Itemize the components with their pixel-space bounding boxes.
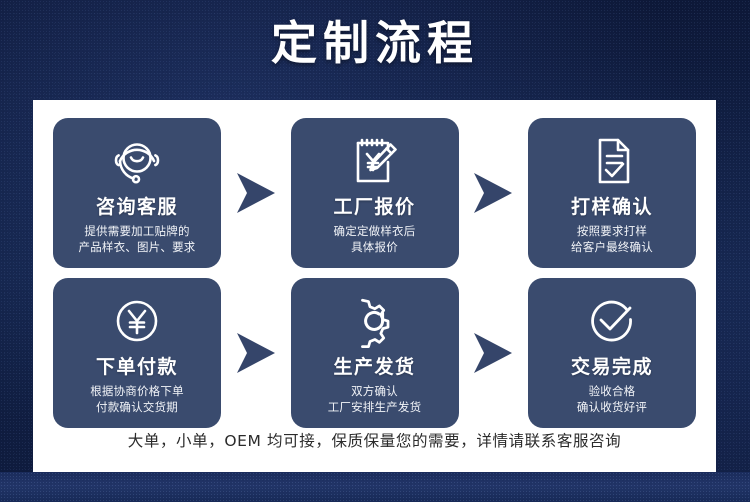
process-row-top: 咨询客服 提供需要加工贴牌的 产品样衣、图片、要求 <box>53 118 696 268</box>
step-card-desc: 按照要求打样 给客户最终确认 <box>571 223 653 255</box>
step-card-desc: 根据协商价格下单 付款确认交货期 <box>90 383 184 415</box>
gear-icon <box>346 290 404 352</box>
promo-banner: 定制流程 <box>0 0 750 502</box>
arrow-step-1-to-2 <box>234 169 278 217</box>
yen-circle-icon <box>108 290 166 352</box>
right-dart-icon <box>472 170 514 216</box>
step-card-title: 下单付款 <box>96 355 178 379</box>
headset-support-icon <box>107 130 167 192</box>
arrow-step-2-to-3 <box>471 169 515 217</box>
footer-note: 大单，小单，OEM 均可接，保质保量您的需要，详情请联系客服咨询 <box>33 430 716 452</box>
step-card-desc: 双方确认 工厂安排生产发货 <box>328 383 422 415</box>
right-dart-icon <box>235 170 277 216</box>
step-card-title: 工厂报价 <box>333 195 415 219</box>
check-circle-icon <box>583 290 641 352</box>
step-card-4[interactable]: 下单付款 根据协商价格下单 付款确认交货期 <box>53 278 221 428</box>
step-card-2[interactable]: 工厂报价 确定定做样衣后 具体报价 <box>291 118 459 268</box>
step-card-3[interactable]: 打样确认 按照要求打样 给客户最终确认 <box>528 118 696 268</box>
arrow-step-5-to-6 <box>471 329 515 377</box>
bottom-band-noise <box>0 472 750 502</box>
arrow-step-4-to-5 <box>234 329 278 377</box>
step-card-6[interactable]: 交易完成 验收合格 确认收货好评 <box>528 278 696 428</box>
step-card-1[interactable]: 咨询客服 提供需要加工贴牌的 产品样衣、图片、要求 <box>53 118 221 268</box>
bottom-band <box>0 472 750 502</box>
step-card-desc: 确定定做样衣后 具体报价 <box>334 223 416 255</box>
document-check-icon <box>586 130 638 192</box>
step-card-title: 生产发货 <box>333 355 415 379</box>
step-card-title: 交易完成 <box>571 355 653 379</box>
step-card-desc: 提供需要加工贴牌的 产品样衣、图片、要求 <box>79 223 196 255</box>
process-panel: 咨询客服 提供需要加工贴牌的 产品样衣、图片、要求 <box>33 100 716 472</box>
right-dart-icon <box>235 330 277 376</box>
page-title: 定制流程 <box>0 14 750 72</box>
process-row-bottom: 下单付款 根据协商价格下单 付款确认交货期 <box>53 278 696 428</box>
step-card-desc: 验收合格 确认收货好评 <box>577 383 647 415</box>
right-dart-icon <box>472 330 514 376</box>
step-card-5[interactable]: 生产发货 双方确认 工厂安排生产发货 <box>291 278 459 428</box>
step-card-title: 打样确认 <box>571 195 653 219</box>
step-card-title: 咨询客服 <box>96 195 178 219</box>
notepad-yen-pencil-icon <box>346 130 404 192</box>
